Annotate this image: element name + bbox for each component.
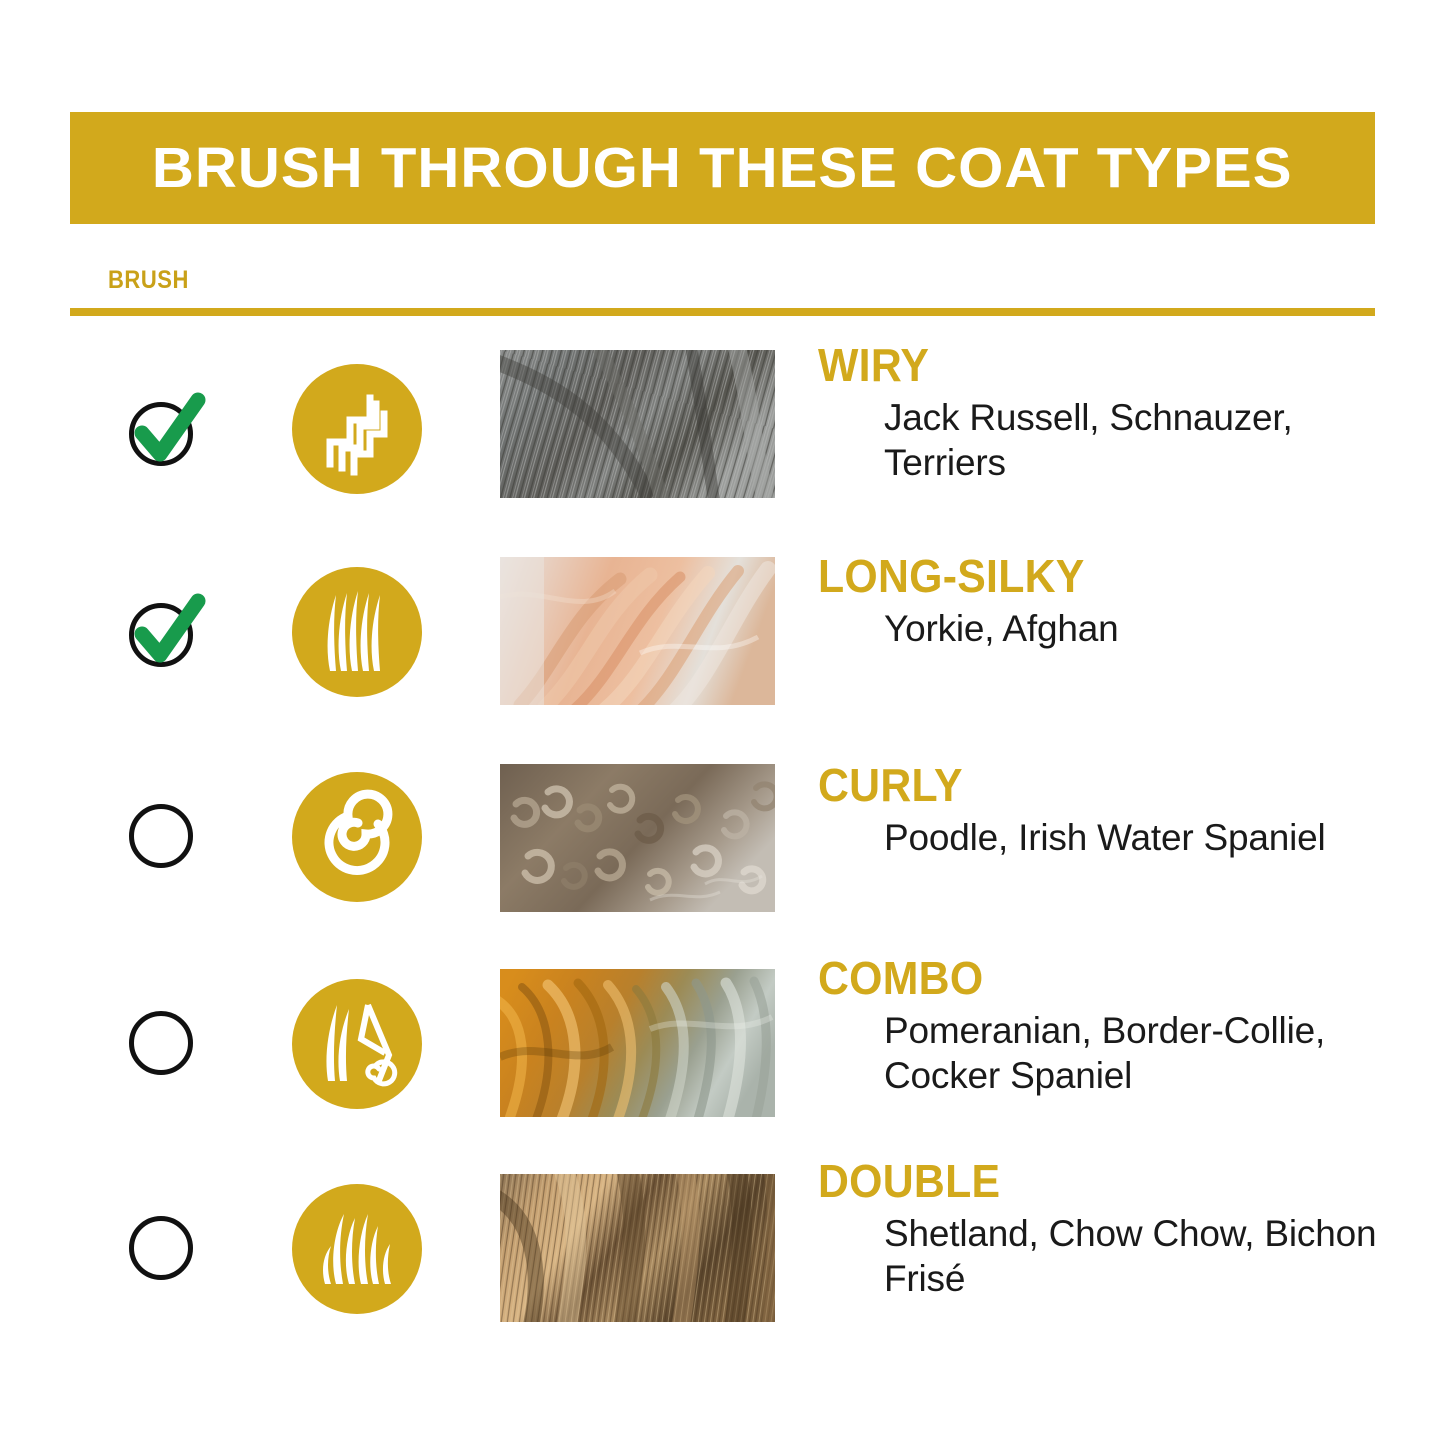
checkbox-circle-icon — [129, 1011, 193, 1075]
coat-type-row: CURLY Poodle, Irish Water Spaniel — [0, 742, 1445, 945]
coat-photo-wiry — [500, 350, 775, 498]
green-check-icon — [124, 587, 210, 673]
header-divider-rule — [70, 308, 1375, 316]
coat-type-text: COMBO Pomeranian, Border-Collie, Cocker … — [818, 955, 1418, 1098]
coat-photo-combo — [500, 969, 775, 1117]
coat-type-text: CURLY Poodle, Irish Water Spaniel — [818, 762, 1418, 860]
combo-coat-icon — [292, 979, 422, 1109]
brush-checkbox[interactable] — [124, 386, 210, 472]
infographic-page: BRUSH THROUGH THESE COAT TYPES BRUSH — [0, 0, 1445, 1445]
coat-type-text: LONG-SILKY Yorkie, Afghan — [818, 553, 1418, 651]
coat-type-list: WIRY Jack Russell, Schnauzer, Terriers — [0, 336, 1445, 1351]
brush-checkbox[interactable] — [124, 995, 210, 1081]
double-coat-icon — [292, 1184, 422, 1314]
coat-photo-curly — [500, 764, 775, 912]
coat-type-breeds: Shetland, Chow Chow, Bichon Frisé — [884, 1211, 1404, 1301]
column-header-brush: BRUSH — [108, 266, 189, 295]
coat-photo-double — [500, 1174, 775, 1322]
coat-type-breeds: Pomeranian, Border-Collie, Cocker Spanie… — [884, 1008, 1404, 1098]
checkbox-circle-icon — [129, 804, 193, 868]
wiry-coat-icon — [292, 364, 422, 494]
coat-type-text: WIRY Jack Russell, Schnauzer, Terriers — [818, 342, 1418, 485]
coat-type-name: COMBO — [818, 955, 1376, 1002]
curly-coat-icon — [292, 772, 422, 902]
coat-type-name: LONG-SILKY — [818, 553, 1376, 600]
coat-type-row: DOUBLE Shetland, Chow Chow, Bichon Frisé — [0, 1148, 1445, 1351]
coat-type-name: CURLY — [818, 762, 1376, 809]
coat-type-row: WIRY Jack Russell, Schnauzer, Terriers — [0, 336, 1445, 539]
coat-type-breeds: Yorkie, Afghan — [884, 606, 1404, 651]
brush-checkbox[interactable] — [124, 587, 210, 673]
coat-type-breeds: Poodle, Irish Water Spaniel — [884, 815, 1404, 860]
coat-type-breeds: Jack Russell, Schnauzer, Terriers — [884, 395, 1404, 485]
header-banner: BRUSH THROUGH THESE COAT TYPES — [70, 112, 1375, 224]
long-silky-coat-icon — [292, 567, 422, 697]
coat-type-name: DOUBLE — [818, 1158, 1376, 1205]
coat-type-name: WIRY — [818, 342, 1376, 389]
green-check-icon — [124, 386, 210, 472]
coat-type-text: DOUBLE Shetland, Chow Chow, Bichon Frisé — [818, 1158, 1418, 1301]
brush-checkbox[interactable] — [124, 788, 210, 874]
coat-type-row: COMBO Pomeranian, Border-Collie, Cocker … — [0, 945, 1445, 1148]
brush-checkbox[interactable] — [124, 1200, 210, 1286]
coat-photo-long-silky — [500, 557, 775, 705]
coat-type-row: LONG-SILKY Yorkie, Afghan — [0, 539, 1445, 742]
page-title: BRUSH THROUGH THESE COAT TYPES — [152, 140, 1293, 197]
checkbox-circle-icon — [129, 1216, 193, 1280]
